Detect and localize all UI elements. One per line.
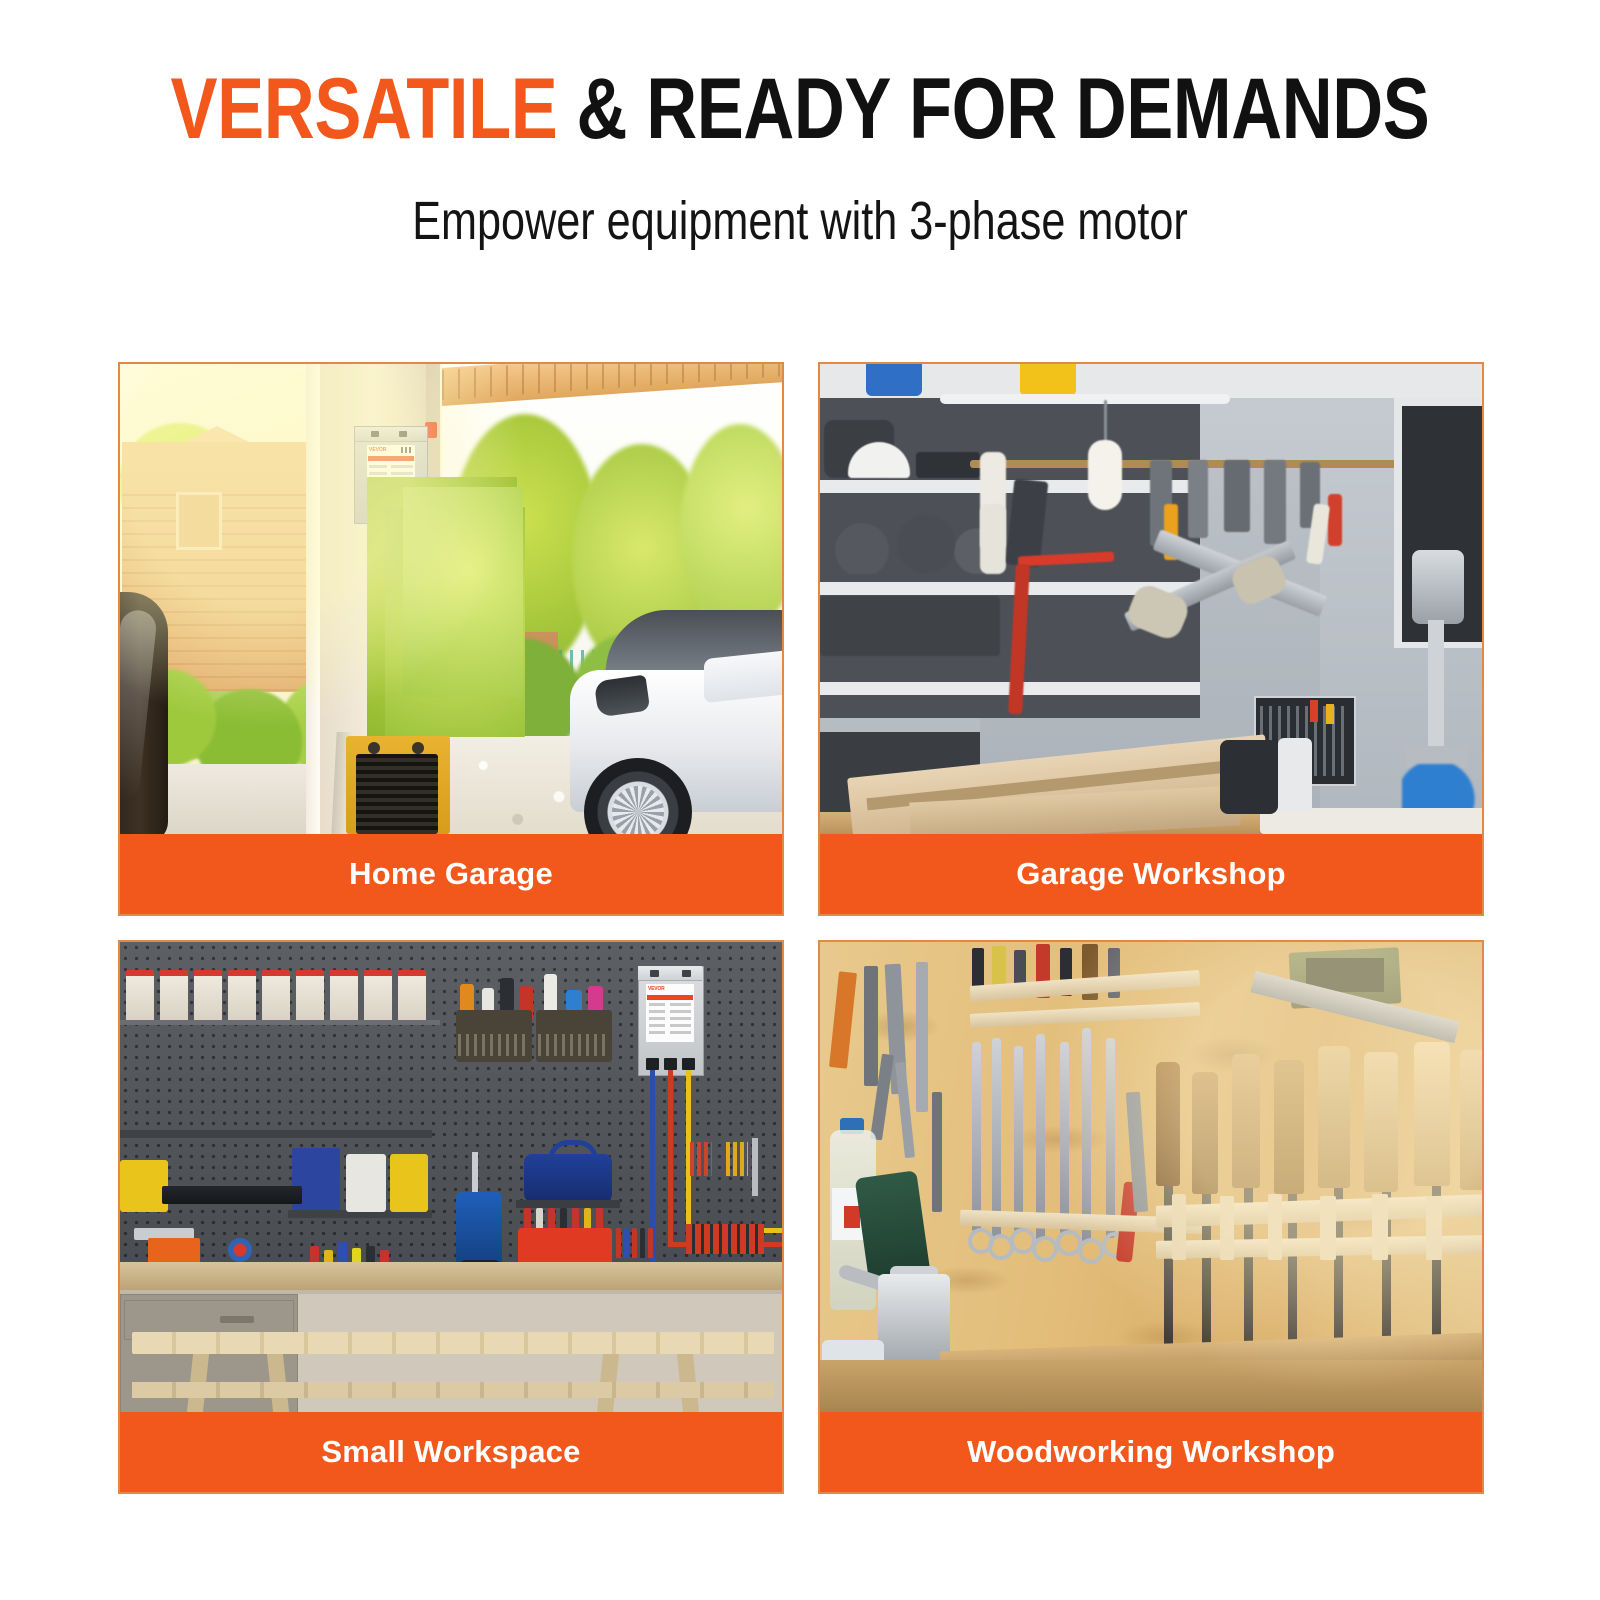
- organizer-slots: [458, 1034, 530, 1056]
- white-car: [554, 592, 782, 834]
- clamp-rack: [686, 1224, 764, 1254]
- car-hood: [704, 649, 782, 703]
- device-screw: [682, 970, 691, 977]
- device-screw: [650, 970, 659, 977]
- bag-shelf: [516, 1200, 620, 1208]
- scenario-panel-garage-workshop[interactable]: Garage Workshop: [818, 362, 1484, 916]
- drawer-handle: [220, 1316, 254, 1323]
- device-terminal: [646, 1058, 659, 1070]
- scenario-panel-woodworking-workshop[interactable]: Woodworking Workshop: [818, 940, 1484, 1494]
- panel-caption: Small Workspace: [120, 1412, 782, 1492]
- storage-jar: [262, 976, 290, 1020]
- device-screw: [399, 431, 407, 437]
- spec-row: [649, 1017, 691, 1020]
- yellow-container: [120, 1160, 168, 1212]
- device-terminal: [682, 1058, 695, 1070]
- label-header-band: [647, 995, 693, 1000]
- hex-key-set: [726, 1142, 748, 1176]
- storage-jar: [398, 976, 426, 1020]
- drill-press-head: [1412, 550, 1464, 624]
- heater-knob: [412, 742, 424, 754]
- spec-row: [649, 1031, 691, 1034]
- device-terminal: [403, 487, 523, 697]
- device-top-panel: [355, 427, 427, 442]
- small-screwdriver-set: [616, 1224, 654, 1258]
- screwdriver: [624, 1228, 629, 1258]
- panel-caption: Garage Workshop: [820, 834, 1482, 914]
- pallet-bench: [132, 1332, 774, 1354]
- screwdriver: [632, 1228, 637, 1258]
- light-glare: [820, 942, 1482, 1412]
- clamp: [1224, 460, 1250, 532]
- storage-jar: [364, 976, 392, 1020]
- jar-shelf: [120, 1020, 440, 1025]
- heater-knob: [368, 742, 380, 754]
- storage-bin: [866, 364, 922, 396]
- power-sander: [1220, 740, 1278, 814]
- device-top-panel: [638, 966, 702, 981]
- hex-key-set: [690, 1142, 712, 1176]
- pallet-lower-deck: [132, 1382, 774, 1398]
- work-lamp: [1088, 440, 1122, 510]
- storage-jar: [296, 976, 324, 1020]
- shelf-clutter: [830, 514, 990, 574]
- wall-shelf: [120, 1130, 432, 1138]
- pillar-edge: [306, 364, 320, 834]
- spec-row: [369, 465, 413, 468]
- blue-tool-bag: [524, 1154, 612, 1202]
- storage-jar: [330, 976, 358, 1020]
- tape-reel: [228, 1238, 252, 1262]
- clamp: [1188, 460, 1208, 538]
- device-screw: [371, 431, 379, 437]
- drill-press-column: [1428, 620, 1444, 746]
- phase-converter-device: VEVOR: [354, 426, 428, 524]
- page-subtitle: Empower equipment with 3-phase motor: [160, 194, 1440, 248]
- small-workspace-photo: VEVOR: [120, 942, 782, 1412]
- header: VERSATILE & READY FOR DEMANDS Empower eq…: [0, 0, 1600, 248]
- red-wire: [668, 1070, 673, 1246]
- clamp: [1264, 460, 1286, 544]
- home-garage-photo: VEVOR: [120, 364, 782, 834]
- headline-rest-text: & READY FOR DEMANDS: [557, 61, 1429, 157]
- hanging-tool: [980, 504, 1006, 574]
- marketing-page: VERSATILE & READY FOR DEMANDS Empower eq…: [0, 0, 1600, 1600]
- scenario-grid: VEVOR: [118, 362, 1484, 1494]
- shelf: [820, 480, 1200, 493]
- side-mirror: [594, 675, 651, 718]
- wheel-rim: [612, 786, 664, 834]
- wrench: [752, 1138, 758, 1196]
- brand-logo-text: VEVOR: [369, 447, 387, 453]
- spec-row: [649, 1003, 691, 1006]
- storage-jar: [126, 976, 154, 1020]
- storage-jar: [194, 976, 222, 1020]
- storage-jar: [160, 976, 188, 1020]
- page-title: VERSATILE & READY FOR DEMANDS: [144, 66, 1456, 152]
- spec-row: [649, 1024, 691, 1027]
- power-drill: [456, 1192, 502, 1268]
- cabin-window: [176, 492, 222, 550]
- panel-caption: Home Garage: [120, 834, 782, 914]
- yellow-container: [390, 1154, 428, 1212]
- screwdriver: [616, 1228, 621, 1258]
- tool-case-red-item: [1310, 700, 1318, 722]
- heater-grille: [356, 754, 438, 834]
- scenario-panel-home-garage[interactable]: VEVOR: [118, 362, 784, 916]
- certification-marks: [401, 447, 413, 453]
- headline-accent-text: VERSATILE: [171, 61, 558, 157]
- red-handle-tool: [1328, 494, 1342, 546]
- spirit-level: [162, 1186, 302, 1204]
- device-terminal: [664, 1058, 677, 1070]
- panel-caption: Woodworking Workshop: [820, 1412, 1482, 1492]
- brand-logo-text: VEVOR: [648, 986, 665, 992]
- tool-case-yellow-item: [1326, 704, 1334, 724]
- storage-bin: [1020, 364, 1076, 396]
- label-header-band: [368, 456, 414, 461]
- spray-bottle: [1278, 738, 1312, 812]
- screwdriver: [648, 1228, 653, 1258]
- ceiling-rail: [940, 394, 1230, 404]
- spec-row: [369, 472, 413, 475]
- workbench-top: [120, 1262, 782, 1290]
- organizer-slots: [538, 1034, 610, 1056]
- scenario-panel-small-workspace[interactable]: VEVOR: [118, 940, 784, 1494]
- screwdriver: [640, 1228, 645, 1258]
- spec-row: [649, 1010, 691, 1013]
- storage-jar: [228, 976, 256, 1020]
- garage-workshop-photo: [820, 364, 1482, 834]
- shelf-clutter: [820, 596, 1000, 656]
- white-container: [346, 1154, 386, 1212]
- drill-bit: [472, 1152, 478, 1196]
- woodworking-workshop-photo: [820, 942, 1482, 1412]
